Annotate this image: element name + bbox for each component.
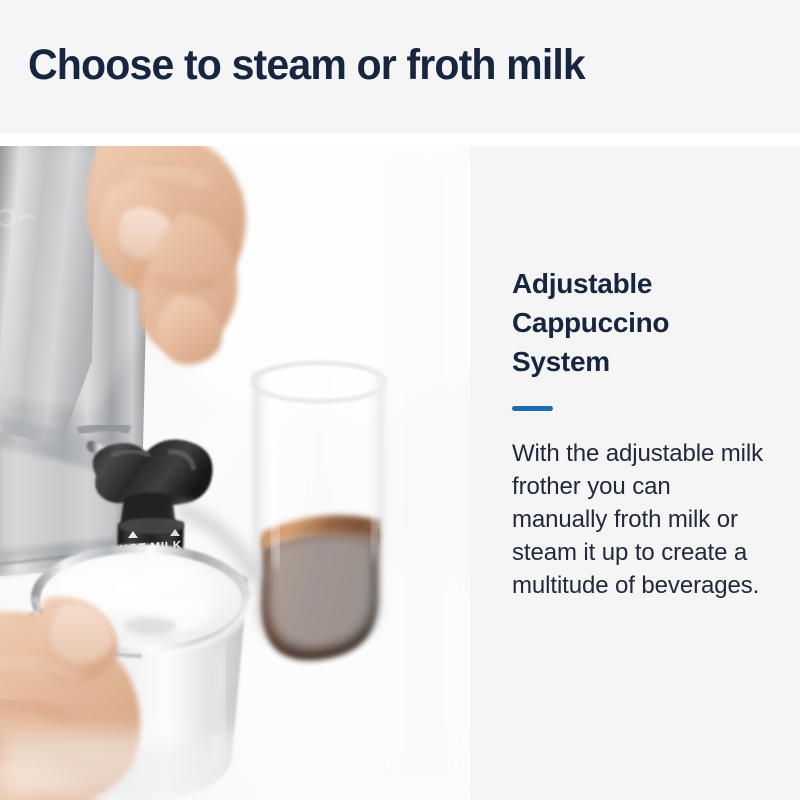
feature-body-text: With the adjustable milk frother you can… [512, 437, 764, 602]
page-title: Choose to steam or froth milk [28, 36, 585, 94]
header-band: Choose to steam or froth milk [0, 0, 800, 133]
espresso-glass [253, 363, 385, 670]
header-divider [0, 133, 800, 146]
feature-text-column: Adjustable Cappuccino System With the ad… [512, 264, 764, 626]
product-feature-panel: Choose to steam or froth milk [0, 0, 800, 800]
content-band: HOT MILK CAPPUCCINO [0, 146, 800, 800]
feature-title: Adjustable Cappuccino System [512, 264, 764, 381]
product-photo-illustration: HOT MILK CAPPUCCINO [0, 146, 470, 800]
product-photo: HOT MILK CAPPUCCINO [0, 146, 470, 800]
accent-divider [512, 406, 553, 411]
